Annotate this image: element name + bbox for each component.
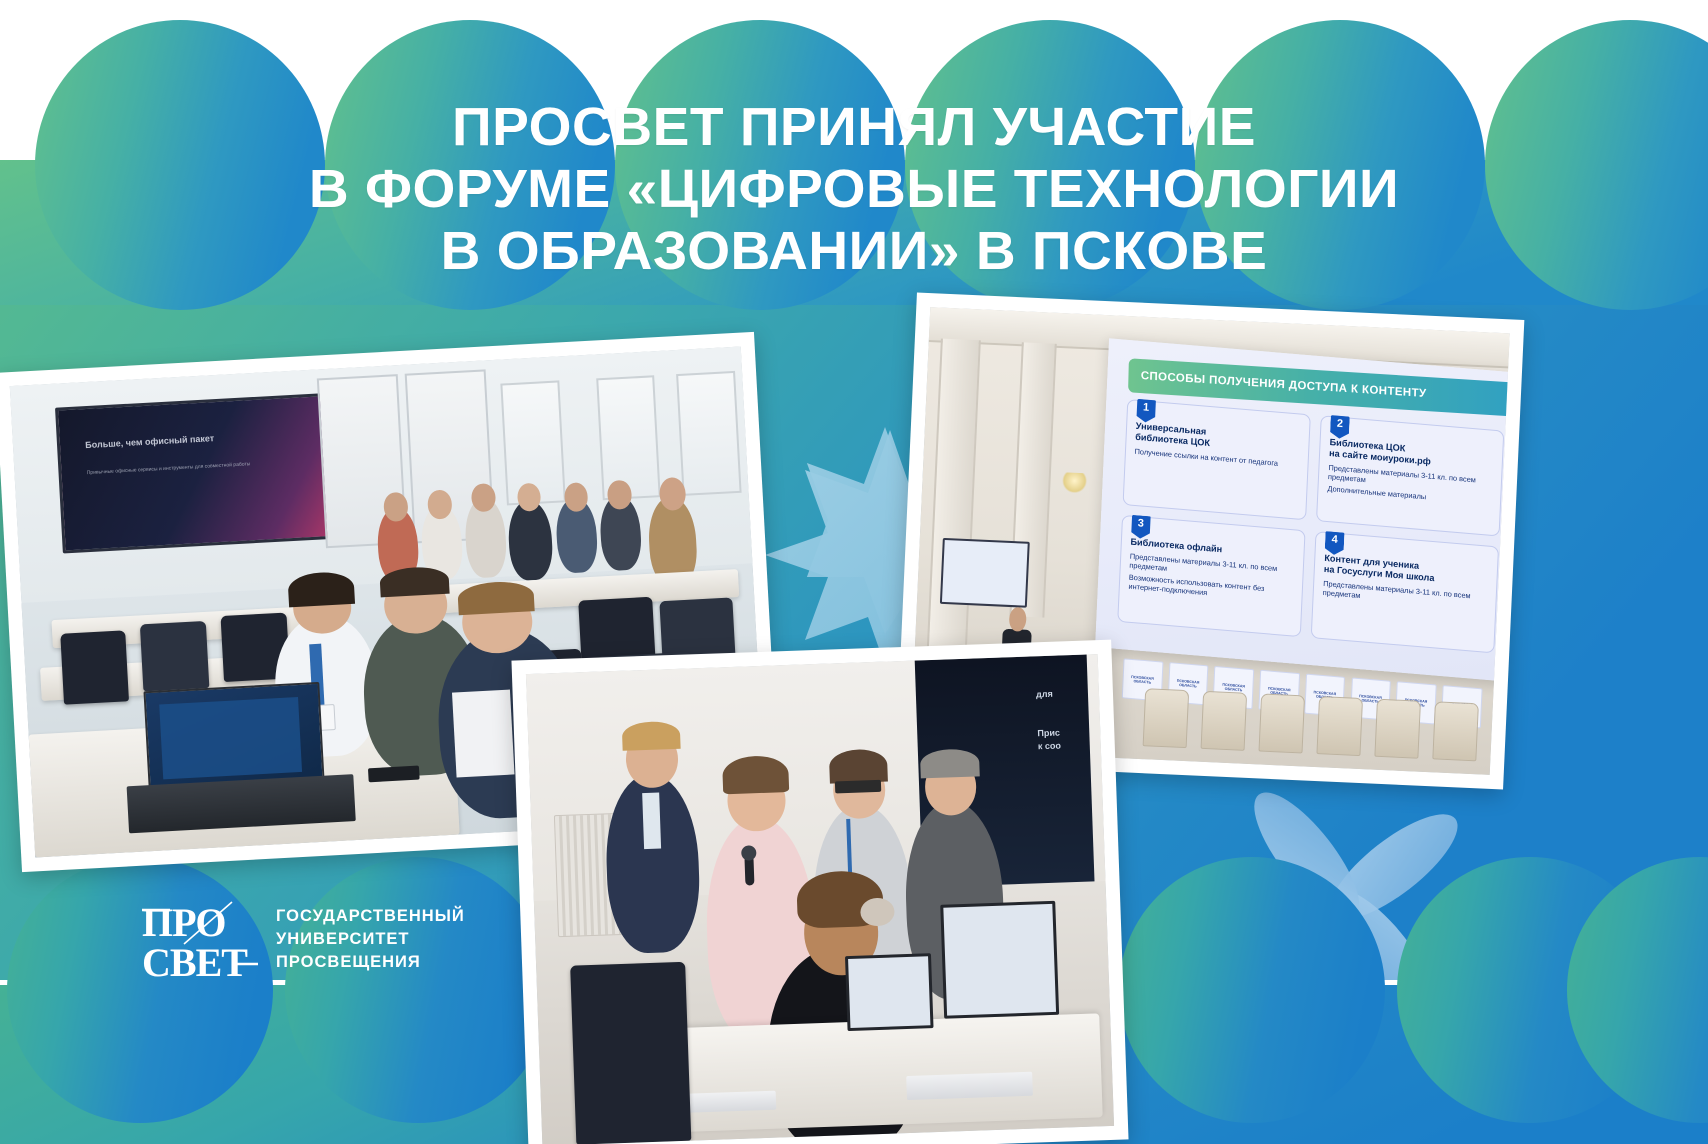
headline-line-1: ПРОСВЕТ ПРИНЯЛ УЧАСТИЕ (0, 96, 1708, 158)
poster-canvas: ПРОСВЕТ ПРИНЯЛ УЧАСТИЕ В ФОРУМЕ «ЦИФРОВЫ… (0, 0, 1708, 1144)
brand-name-line-2: УНИВЕРСИТЕТ (276, 928, 465, 951)
prosvet-logo-mark: ПРО СВЕТ (140, 896, 258, 982)
side-monitor (940, 538, 1030, 608)
headline-line-3: В ОБРАЗОВАНИИ» В ПСКОВЕ (0, 220, 1708, 282)
slide-card-1: 1 Универсальная библиотека ЦОК Получение… (1122, 399, 1311, 521)
brand-name-line-3: ПРОСВЕЩЕНИЯ (276, 951, 465, 974)
panel-discussion-photo: для Прис к соо (511, 640, 1128, 1144)
card-number-badge: 2 (1330, 415, 1350, 440)
panel-screen-text: для Прис к соо (1036, 686, 1083, 753)
headline-line-2: В ФОРУМЕ «ЦИФРОВЫЕ ТЕХНОЛОГИИ (0, 158, 1708, 220)
monitor (940, 901, 1058, 1018)
slide-card-4: 4 Контент для ученика на Госуслуги Моя ш… (1311, 531, 1500, 653)
poster-headline: ПРОСВЕТ ПРИНЯЛ УЧАСТИЕ В ФОРУМЕ «ЦИФРОВЫ… (0, 96, 1708, 282)
slide-card-3: 3 Библиотека офлайн Представлены материа… (1117, 515, 1306, 637)
wall-screen-title: Больше, чем офисный пакет (85, 426, 338, 452)
laptop-screen (845, 953, 933, 1031)
brand-name: ГОСУДАРСТВЕННЫЙ УНИВЕРСИТЕТ ПРОСВЕЩЕНИЯ (276, 905, 465, 974)
brand-logo: ПРО СВЕТ ГОСУДАРСТВЕННЫЙ УНИВЕРСИТЕТ ПРО… (140, 896, 465, 982)
svg-text:ПРО: ПРО (142, 900, 225, 945)
brand-name-line-1: ГОСУДАРСТВЕННЫЙ (276, 905, 465, 928)
projection-screen: СПОСОБЫ ПОЛУЧЕНИЯ ДОСТУПА К КОНТЕНТУ 1 У… (1095, 338, 1510, 682)
panel-screen-line: для (1036, 686, 1081, 701)
slide-card-2: 2 Библиотека ЦОК на сайте моиуроки.рф Пр… (1316, 415, 1505, 537)
card-number-badge: 1 (1136, 399, 1156, 424)
card-number-badge: 3 (1130, 515, 1150, 540)
wall-screen-subtitle: Привычные офисные сервисы и инструменты … (87, 459, 296, 477)
card-body: Представлены материалы 3-11 кл. по всем … (1128, 552, 1294, 605)
slide-card-grid: 1 Универсальная библиотека ЦОК Получение… (1117, 399, 1505, 653)
office-chair (570, 961, 691, 1144)
eyeglasses (835, 780, 881, 793)
svg-text:СВЕТ: СВЕТ (142, 940, 248, 982)
keyboard (906, 1072, 1033, 1100)
papers (684, 1090, 776, 1112)
microphone (744, 855, 754, 885)
panel-screen-line: к соо (1038, 738, 1083, 753)
photo-inner: для Прис к соо (526, 654, 1114, 1144)
card-number-badge: 4 (1324, 531, 1344, 556)
